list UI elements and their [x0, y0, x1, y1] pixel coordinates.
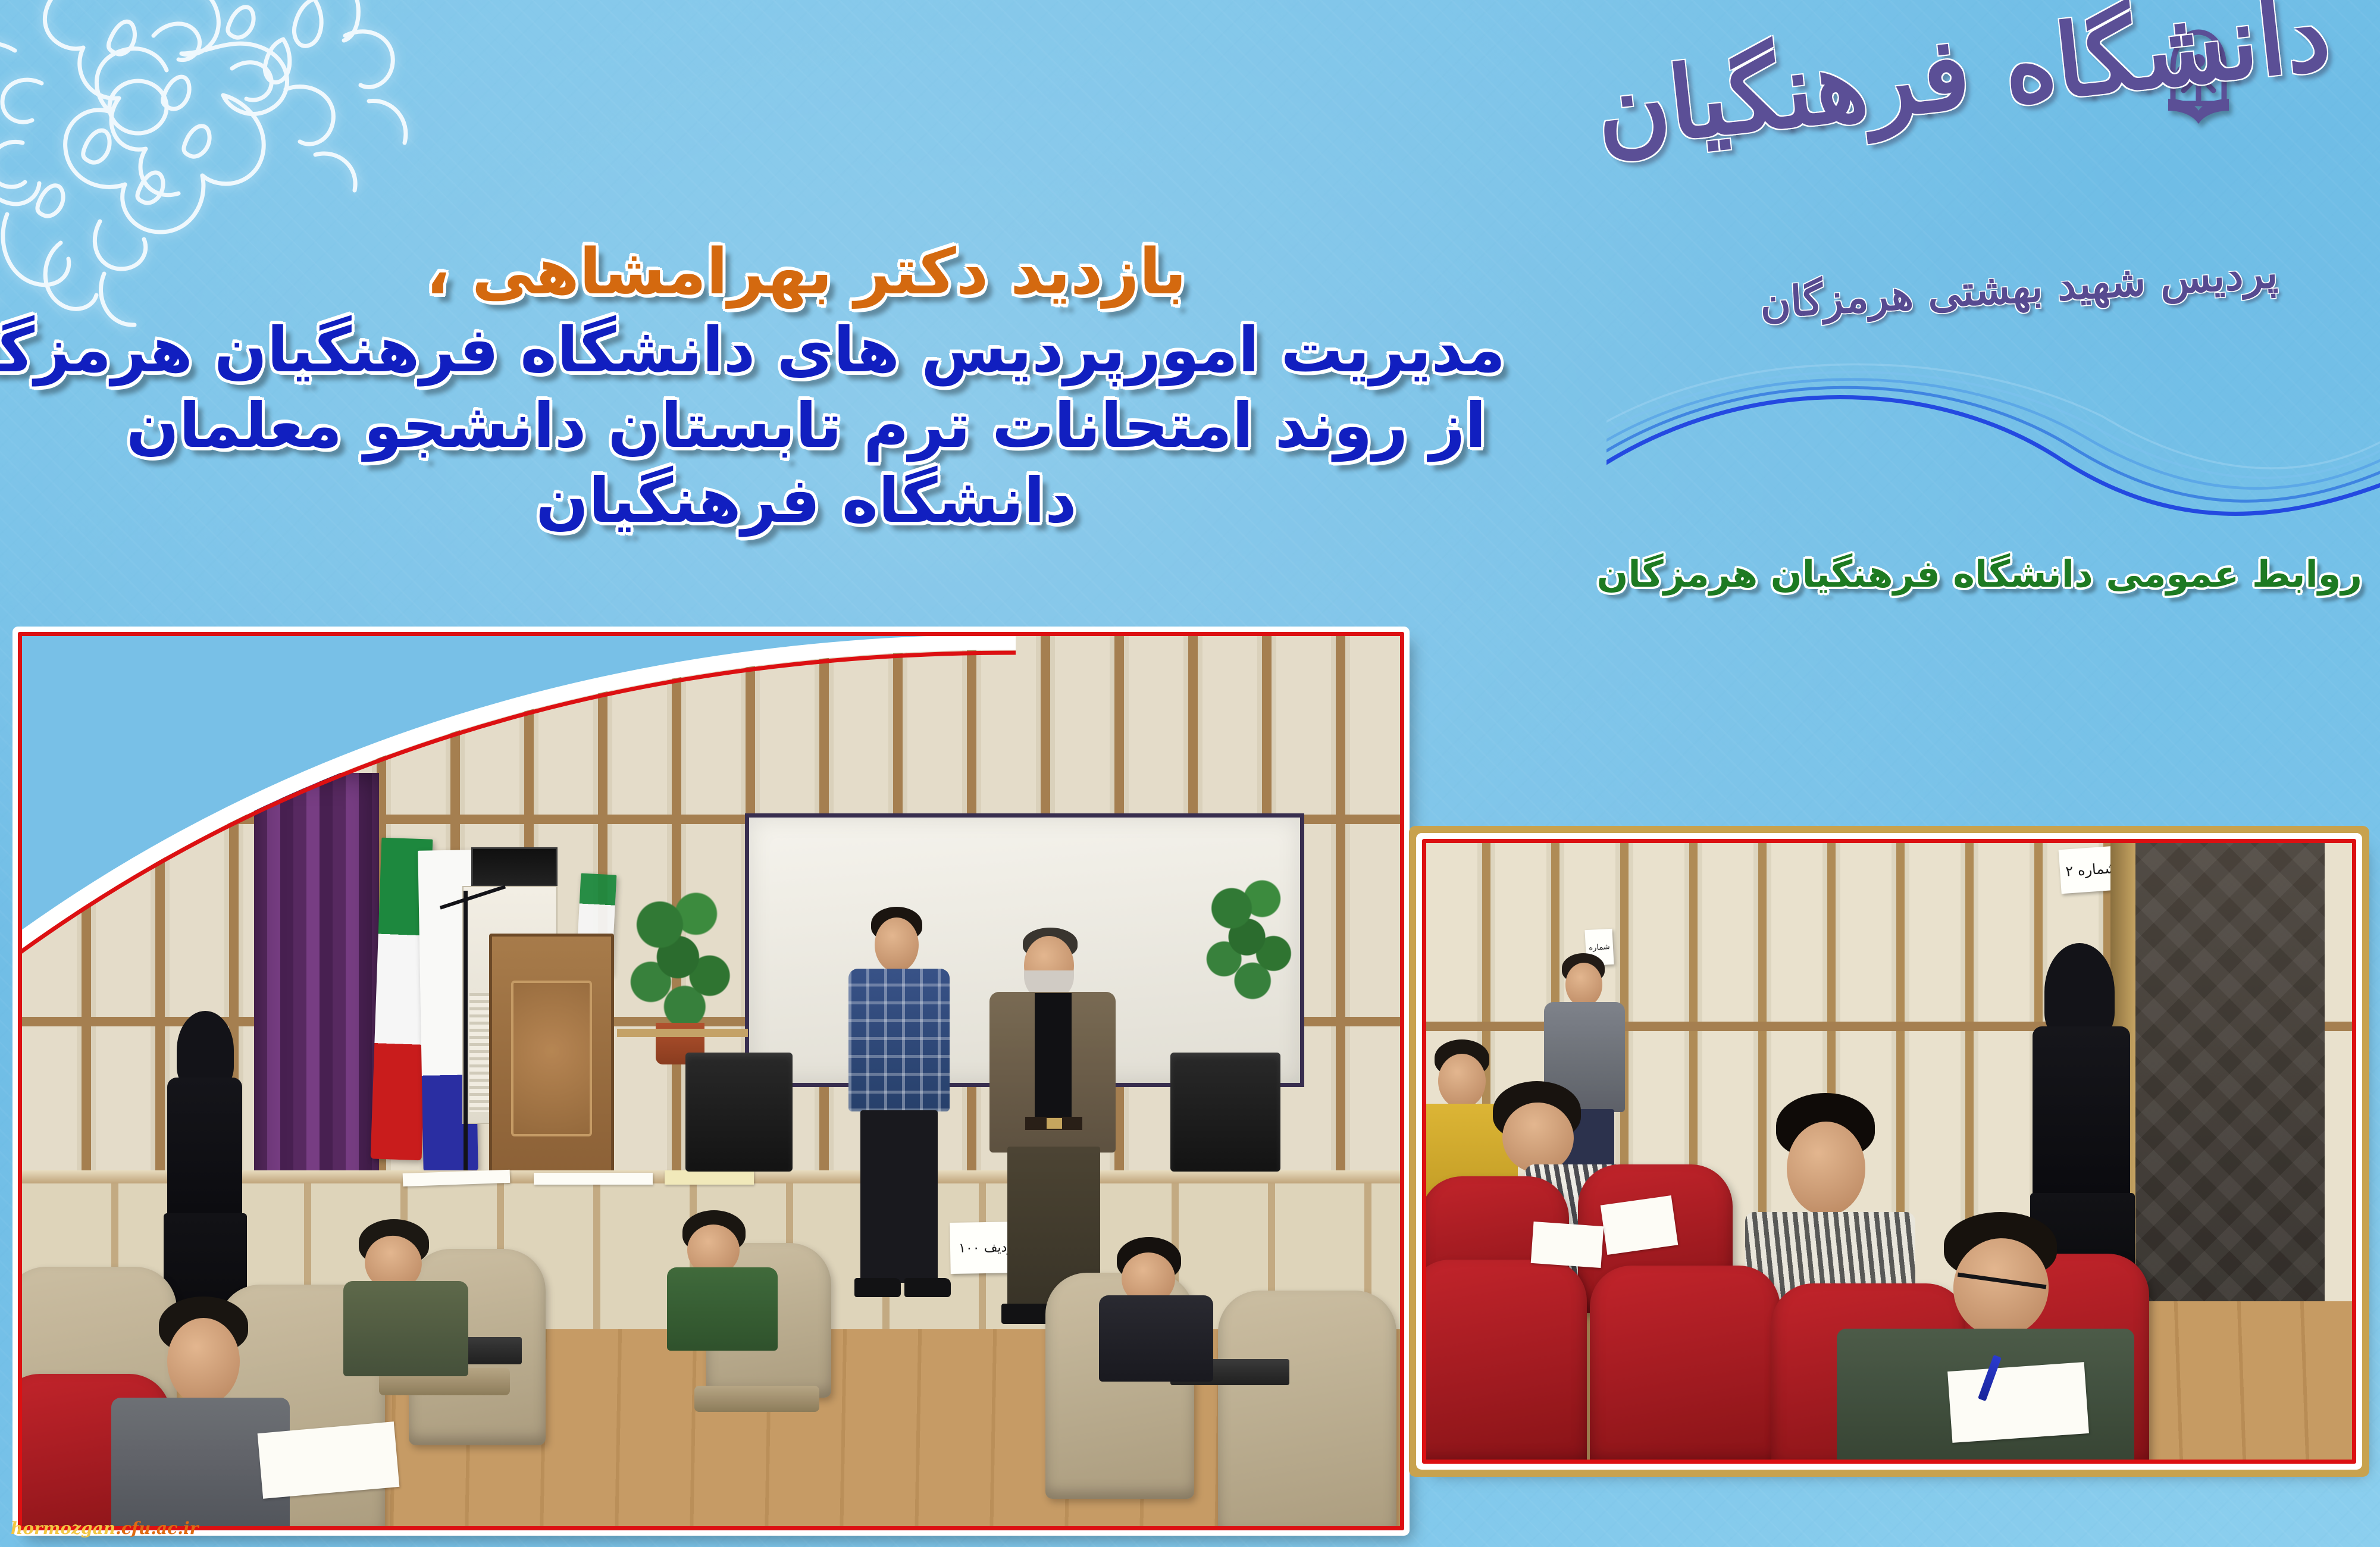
- side-table: [617, 1029, 748, 1037]
- university-logo-block: دانشگاه فرهنگیان پردیس شهید بهشتی هرمزگا…: [1690, 17, 2368, 326]
- chair-arm-right: [694, 1386, 819, 1412]
- chair-red-mid-a: [1422, 1260, 1587, 1464]
- papers-on-stage-2: [534, 1173, 653, 1185]
- watermark-part-a: hormozgan: [11, 1518, 115, 1538]
- loudspeaker-wall-left: [40, 632, 150, 809]
- photo-main-auditorium: ردیف ۱۰۰: [18, 632, 1404, 1530]
- person-seated-student-right: [1099, 1237, 1218, 1374]
- microphone-stand: [464, 891, 468, 1188]
- photo-inset-exam-hall: شماره مراقب شماره ۲: [1422, 839, 2356, 1464]
- padded-door: [2134, 839, 2325, 1307]
- inner-shirt: [1035, 993, 1072, 1118]
- logo-campus-name: پردیس شهید بهشتی هرمزگان: [1759, 245, 2332, 328]
- belt-buckle: [1047, 1118, 1062, 1129]
- potted-plant: [626, 886, 739, 1041]
- public-relations-credit: روابط عمومی دانشگاه فرهنگیان هرمزگان: [1743, 552, 2362, 596]
- exam-paper-left: [1601, 1195, 1678, 1255]
- purple-curtain: [254, 773, 379, 1225]
- poster-canvas: دانشگاه فرهنگیان پردیس شهید بهشتی هرمزگا…: [0, 0, 2380, 1547]
- exam-paper-center: [1531, 1222, 1604, 1268]
- person-seated-student-green-shirt: [665, 1210, 784, 1347]
- headline-line-3: از روند امتحانات ترم تابستان دانشجو معلم…: [107, 392, 1505, 467]
- headline-line-4: دانشگاه فرهنگیان: [107, 467, 1505, 542]
- exam-paper-foreground: [258, 1421, 400, 1499]
- loudspeaker-stage-left: [685, 1053, 793, 1172]
- wooden-podium: [489, 934, 614, 1183]
- headline-block: بازدید دکتر بهرامشاهی ، مدیریت امورپردیس…: [107, 238, 1505, 542]
- person-seated-student-bowed: [343, 1219, 474, 1374]
- exam-answer-sheet: [1947, 1362, 2089, 1443]
- watermark-url: hormozgan.cfu.ac.ir: [11, 1518, 198, 1538]
- led-display-panel: [471, 847, 558, 887]
- loudspeaker-stage-right: [1170, 1053, 1280, 1172]
- papers-on-stage-3: [665, 1170, 754, 1185]
- watermark-part-b: .cfu.ac.ir: [115, 1518, 198, 1538]
- headline-line-2: مدیریت امورپردیس های دانشگاه فرهنگیان هر…: [107, 317, 1505, 392]
- person-man-in-plaid-shirt: [840, 907, 959, 1311]
- chair-row3-far-right: [1218, 1291, 1396, 1530]
- headline-line-1: بازدید دکتر بهرامشاهی ،: [107, 238, 1505, 317]
- chair-red-mid-b: [1590, 1266, 1780, 1464]
- potted-plant-right: [1203, 874, 1298, 1011]
